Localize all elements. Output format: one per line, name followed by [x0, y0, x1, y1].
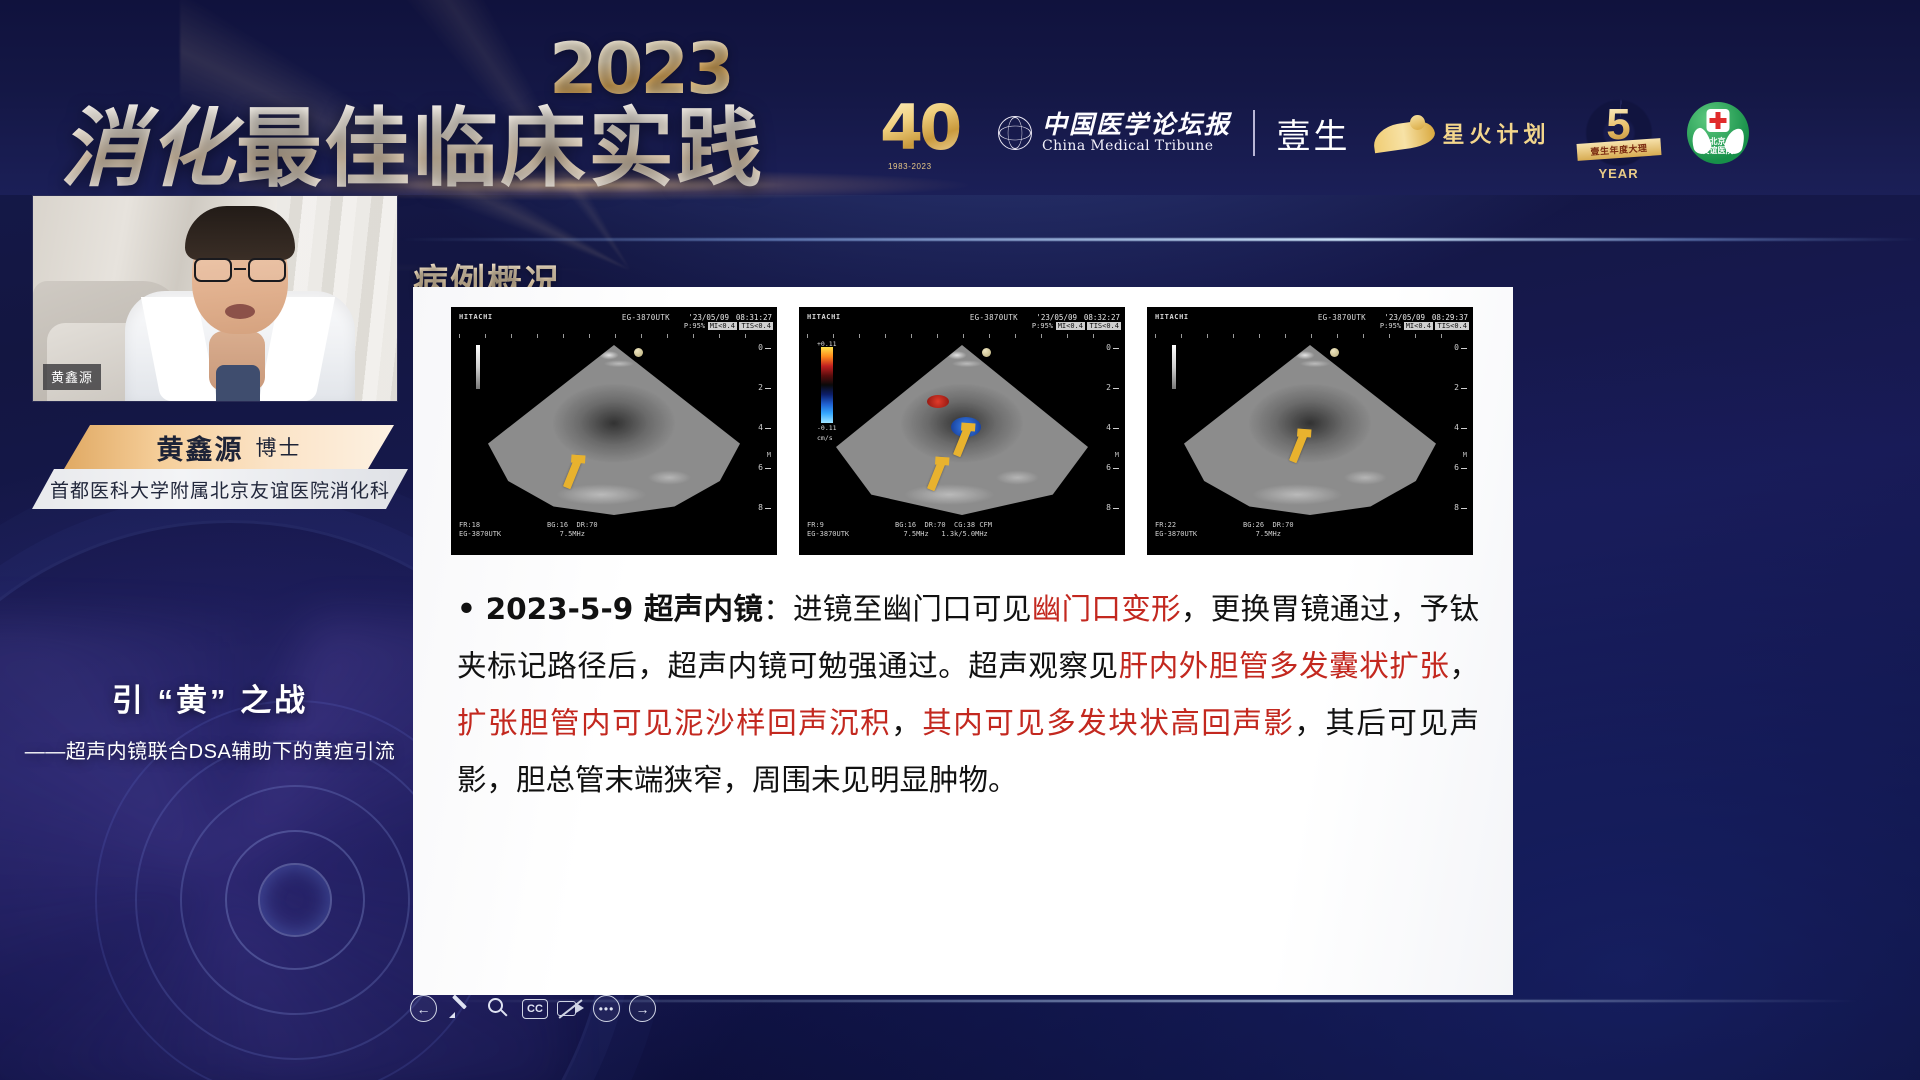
conference-title: 消化最佳临床实践	[60, 78, 764, 203]
speaker-name-bar: 黄鑫源 博士	[64, 425, 394, 469]
closed-caption-button[interactable]: CC	[522, 999, 548, 1019]
speaker-hair	[185, 206, 295, 260]
us-footer-mid: BG:16 DR:70 CG:38 CFM 7.5MHz 1.3k/5.0MHz	[895, 521, 992, 539]
speaker-info-banner: 黄鑫源 博士 首都医科大学附属北京友谊医院消化科	[16, 425, 406, 509]
speaker-webcam-video[interactable]: 黄鑫源	[33, 196, 397, 401]
us-color-scale-bottom: -0.11	[817, 424, 837, 432]
us-freq: 7.5MHz	[560, 530, 585, 538]
china-medical-tribune-logo: 中国医学论坛报 China Medical Tribune	[998, 112, 1231, 154]
us-dr: DR:70	[577, 521, 598, 529]
speaker-shirt	[216, 365, 260, 401]
us-tis: TIS<0.4	[1435, 322, 1469, 330]
paragraph-highlight-2: 肝内外胆管多发囊状扩张	[1119, 649, 1450, 683]
us-mi: MI<0.4	[1404, 322, 1433, 330]
five-year-award-logo: 5 壹生年度大理 YEAR	[1573, 87, 1665, 179]
speaker-affiliation-bar: 首都医科大学附属北京友谊医院消化科	[32, 469, 408, 509]
anniversary-number: 40	[880, 97, 976, 159]
medical-cross-icon	[1706, 109, 1729, 132]
us-time: 08:31:27	[736, 313, 772, 322]
us-color-doppler-red	[927, 395, 949, 408]
us-vendor: HITACHI	[459, 313, 493, 321]
background-divider-line	[400, 238, 1920, 241]
us-mi: MI<0.4	[1056, 322, 1085, 330]
hospital-name-line1: 北京	[1710, 137, 1726, 146]
us-marker-dot	[634, 348, 643, 357]
pen-icon[interactable]	[446, 995, 475, 1022]
us-fr: FR:22	[1155, 521, 1176, 529]
presentation-toolbar[interactable]: ← CC ••• →	[410, 995, 656, 1022]
us-date: '23/05/09	[688, 313, 729, 322]
anniversary-40-logo: 40 1983-2023	[880, 97, 976, 169]
conference-title-rest: 最佳临床实践	[236, 99, 764, 199]
background-ring	[258, 863, 332, 937]
slide-canvas[interactable]: HITACHI EG-3870UTK '23/05/09 08:31:27 P:…	[413, 287, 1513, 995]
hospital-logo: 北京 友谊医院	[1687, 102, 1749, 164]
us-tis: TIS<0.4	[1087, 322, 1121, 330]
speaker-degree: 博士	[256, 432, 302, 462]
presentation-stage: 2023 消化最佳临床实践 40 1983-2023 中国医学论坛报 China…	[0, 0, 1920, 1080]
paragraph-seg4: ，	[891, 706, 922, 740]
us-depth-scale: 0 2 4 6 8	[1097, 343, 1121, 513]
us-footer-left: FR:9 EG-3870UTK	[807, 521, 849, 539]
ultrasound-image-row: HITACHI EG-3870UTK '23/05/09 08:31:27 P:…	[451, 307, 1473, 555]
paragraph-seg1: 进镜至幽门口可见	[793, 592, 1032, 626]
us-footer-left: FR:18 EG-3870UTK	[459, 521, 501, 539]
us-bg: BG:16	[895, 521, 916, 529]
xinghuo-logo: 星火计划	[1373, 113, 1551, 153]
us-depth-scale: 0 2 4 6 8	[749, 343, 773, 513]
ultrasound-image: HITACHI EG-3870UTK '23/05/09 08:29:37 P:…	[1147, 307, 1473, 555]
us-power: P:95%	[1380, 322, 1401, 330]
speaker-name: 黄鑫源	[157, 428, 244, 467]
us-date: '23/05/09	[1384, 313, 1425, 322]
us-tis: TIS<0.4	[739, 322, 773, 330]
webcam-name-overlay: 黄鑫源	[43, 364, 101, 390]
us-mode: M	[1115, 451, 1119, 459]
paragraph-seg3: ，	[1449, 649, 1479, 683]
anniversary-years: 1983-2023	[888, 162, 932, 171]
yisheng-logo: 壹生	[1277, 109, 1351, 158]
us-probe: EG-3870UTK	[970, 313, 1018, 322]
us-color-scale-bar	[821, 347, 833, 423]
us-fr: FR:18	[459, 521, 480, 529]
sponsor-logo-bar: 40 1983-2023 中国医学论坛报 China Medical Tribu…	[880, 78, 1749, 188]
us-mi: MI<0.4	[708, 322, 737, 330]
us-tick-row	[1155, 334, 1465, 338]
us-time: 08:32:27	[1084, 313, 1120, 322]
us-probe-bottom: EG-3870UTK	[459, 530, 501, 538]
us-sector-image	[488, 345, 740, 515]
us-mode: M	[767, 451, 771, 459]
logo-divider	[1253, 110, 1255, 156]
us-date: '23/05/09	[1036, 313, 1077, 322]
us-dr: DR:70	[1273, 521, 1294, 529]
back-button[interactable]: ←	[410, 995, 437, 1022]
talk-title: 引 “黄” 之战	[0, 675, 420, 720]
paragraph-colon: ：	[763, 592, 793, 626]
us-dr: DR:70	[925, 521, 946, 529]
ultrasound-image: HITACHI EG-3870UTK '23/05/09 08:31:27 P:…	[451, 307, 777, 555]
us-cfm-freq: 1.3k/5.0MHz	[941, 530, 987, 538]
more-options-button[interactable]: •••	[593, 995, 620, 1022]
talk-title-block: 引 “黄” 之战 ——超声内镜联合DSA辅助下的黄疸引流	[0, 675, 420, 764]
tribune-text: 中国医学论坛报 China Medical Tribune	[1042, 112, 1231, 154]
us-marker-dot	[1330, 348, 1339, 357]
us-bg: BG:16	[547, 521, 568, 529]
us-time: 08:29:37	[1432, 313, 1468, 322]
us-fr: FR:9	[807, 521, 824, 529]
us-probe: EG-3870UTK	[622, 313, 670, 322]
conference-title-cursive: 消化	[60, 98, 236, 199]
paragraph-date-label: 2023-5-9 超声内镜	[486, 592, 764, 626]
camera-off-icon[interactable]	[557, 999, 584, 1019]
us-tick-row	[459, 334, 769, 338]
forward-button[interactable]: →	[629, 995, 656, 1022]
us-tick-row	[807, 334, 1117, 338]
us-vendor: HITACHI	[807, 313, 841, 321]
us-footer-left: FR:22 EG-3870UTK	[1155, 521, 1197, 539]
globe-icon	[998, 116, 1032, 150]
us-power: P:95%	[684, 322, 705, 330]
paragraph-highlight-1: 幽门口变形	[1032, 592, 1181, 626]
us-freq: 7.5MHz	[903, 530, 928, 538]
five-year-label: YEAR	[1573, 166, 1665, 181]
talk-subtitle: ——超声内镜联合DSA辅助下的黄疸引流	[0, 735, 420, 764]
us-footer-mid: BG:26 DR:70 7.5MHz	[1243, 521, 1294, 539]
us-depth-scale: 0 2 4 6 8	[1445, 343, 1469, 513]
us-gain-bar	[476, 345, 480, 389]
paragraph-highlight-4: 其内可见多发块状高回声影	[922, 706, 1294, 740]
us-power: P:95%	[1032, 322, 1053, 330]
slide-body-paragraph: • 2023-5-9 超声内镜：进镜至幽门口可见幽门口变形，更换胃镜通过，予钛夹…	[457, 581, 1479, 809]
us-probe-bottom: EG-3870UTK	[1155, 530, 1197, 538]
tribune-english-name: China Medical Tribune	[1042, 138, 1231, 154]
us-vendor: HITACHI	[1155, 313, 1189, 321]
us-footer-mid: BG:16 DR:70 7.5MHz	[547, 521, 598, 539]
us-marker-dot	[982, 348, 991, 357]
us-mode: M	[1463, 451, 1467, 459]
us-color-scale-top: +0.11	[817, 340, 837, 348]
xinghuo-label: 星火计划	[1443, 117, 1551, 149]
speaker-mouth	[225, 304, 255, 319]
speaker-affiliation: 首都医科大学附属北京友谊医院消化科	[50, 476, 390, 503]
paragraph-highlight-3: 扩张胆管内可见泥沙样回声沉积	[457, 706, 891, 740]
us-bg: BG:26	[1243, 521, 1264, 529]
us-cfm: CG:38 CFM	[954, 521, 992, 529]
us-gain-bar	[1172, 345, 1176, 389]
us-probe-bottom: EG-3870UTK	[807, 530, 849, 538]
us-freq: 7.5MHz	[1256, 530, 1281, 538]
ultrasound-image: HITACHI EG-3870UTK '23/05/09 08:32:27 P:…	[799, 307, 1125, 555]
paragraph-bullet: •	[457, 592, 476, 626]
bird-icon	[1373, 113, 1435, 153]
us-probe: EG-3870UTK	[1318, 313, 1366, 322]
tribune-chinese-name: 中国医学论坛报	[1042, 112, 1231, 138]
search-icon[interactable]	[484, 995, 513, 1022]
glasses-icon	[192, 258, 288, 282]
us-color-units: cm/s	[817, 434, 833, 442]
